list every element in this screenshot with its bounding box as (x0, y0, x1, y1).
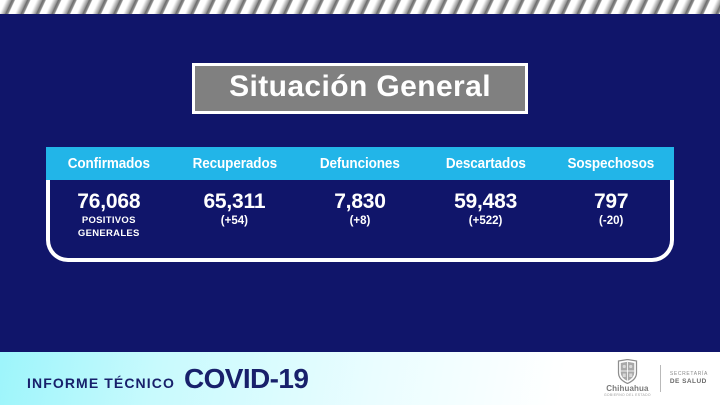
logo-divider (660, 365, 661, 392)
column-header-descartados: Descartados (427, 156, 544, 172)
stat-delta-defunciones: (+8) (297, 215, 423, 229)
top-striped-band (0, 0, 720, 14)
stat-cell-recuperados: 65,311 (+54) (172, 191, 298, 239)
stats-header-row: Confirmados Recuperados Defunciones Desc… (46, 147, 674, 180)
stat-cell-confirmados: 76,068 POSITIVOS GENERALES (46, 191, 172, 239)
column-header-sospechosos: Sospechosos (553, 156, 670, 172)
stat-value-defunciones: 7,830 (297, 191, 423, 213)
stat-value-descartados: 59,483 (423, 191, 549, 213)
salud-logo-bottom: DE SALUD (670, 378, 708, 386)
slide-root: Situación General Confirmados Recuperado… (0, 0, 720, 405)
page-title-plaque: Situación General (192, 63, 528, 114)
stat-cell-defunciones: 7,830 (+8) (297, 191, 423, 239)
footer-logos: Chihuahua GOBIERNO DEL ESTADO SECRETARÍA… (604, 359, 708, 397)
chihuahua-logo-name: Chihuahua (606, 385, 648, 393)
stats-values-row: 76,068 POSITIVOS GENERALES 65,311 (+54) … (46, 180, 674, 239)
stat-value-sospechosos: 797 (548, 191, 674, 213)
stat-sub-confirmados-line2: GENERALES (46, 228, 172, 239)
chihuahua-logo-sub: GOBIERNO DEL ESTADO (604, 394, 651, 397)
stat-value-recuperados: 65,311 (172, 191, 298, 213)
footer-label: INFORME TÉCNICO (27, 375, 175, 391)
stat-delta-descartados: (+522) (423, 215, 549, 229)
chihuahua-logo: Chihuahua GOBIERNO DEL ESTADO (604, 359, 651, 397)
column-header-defunciones: Defunciones (302, 156, 419, 172)
page-title-container: Situación General (0, 63, 720, 114)
column-header-recuperados: Recuperados (176, 156, 293, 172)
footer-bar: INFORME TÉCNICO COVID-19 Chihuahua GOBIE… (0, 352, 720, 405)
stat-cell-descartados: 59,483 (+522) (423, 191, 549, 239)
stats-card-inner: Confirmados Recuperados Defunciones Desc… (46, 147, 674, 254)
footer-brand: COVID-19 (184, 363, 308, 395)
stat-delta-sospechosos: (-20) (548, 215, 674, 229)
stats-card: Confirmados Recuperados Defunciones Desc… (46, 147, 674, 262)
column-header-confirmados: Confirmados (50, 156, 167, 172)
stat-sub-confirmados-line1: POSITIVOS (46, 215, 172, 226)
stat-value-confirmados: 76,068 (46, 191, 172, 213)
salud-logo: SECRETARÍA DE SALUD (670, 371, 708, 385)
footer-branding: INFORME TÉCNICO COVID-19 (27, 363, 308, 395)
stat-cell-sospechosos: 797 (-20) (548, 191, 674, 239)
shield-icon (617, 359, 638, 384)
page-title: Situación General (229, 71, 491, 103)
stat-delta-recuperados: (+54) (172, 215, 298, 229)
